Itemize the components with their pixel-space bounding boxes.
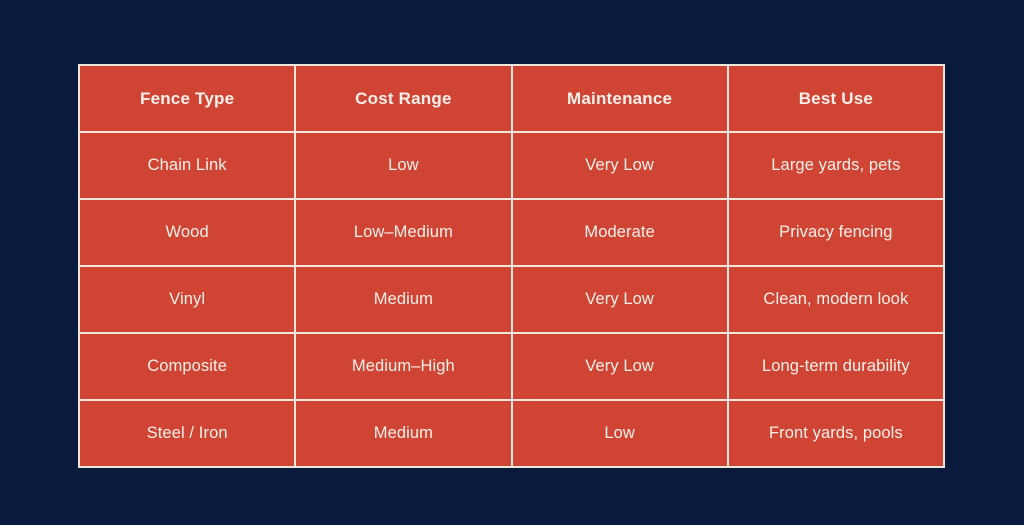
column-header-best-use: Best Use xyxy=(728,65,944,132)
table-body: Chain Link Low Very Low Large yards, pet… xyxy=(79,132,944,467)
cell-maintenance: Very Low xyxy=(512,266,728,333)
cell-maintenance: Very Low xyxy=(512,333,728,400)
cell-maintenance: Moderate xyxy=(512,199,728,266)
column-header-fence-type: Fence Type xyxy=(79,65,295,132)
cell-cost-range: Medium xyxy=(295,266,511,333)
table-row: Vinyl Medium Very Low Clean, modern look xyxy=(79,266,944,333)
cell-fence-type: Steel / Iron xyxy=(79,400,295,467)
page-canvas: Fence Type Cost Range Maintenance Best U… xyxy=(0,0,1024,525)
cell-fence-type: Vinyl xyxy=(79,266,295,333)
table-row: Chain Link Low Very Low Large yards, pet… xyxy=(79,132,944,199)
cell-cost-range: Medium xyxy=(295,400,511,467)
column-header-cost-range: Cost Range xyxy=(295,65,511,132)
cell-cost-range: Medium–High xyxy=(295,333,511,400)
cell-cost-range: Low xyxy=(295,132,511,199)
cell-maintenance: Very Low xyxy=(512,132,728,199)
cell-cost-range: Low–Medium xyxy=(295,199,511,266)
table-header-row: Fence Type Cost Range Maintenance Best U… xyxy=(79,65,944,132)
cell-best-use: Long-term durability xyxy=(728,333,944,400)
table-row: Composite Medium–High Very Low Long-term… xyxy=(79,333,944,400)
table-row: Wood Low–Medium Moderate Privacy fencing xyxy=(79,199,944,266)
cell-fence-type: Composite xyxy=(79,333,295,400)
cell-maintenance: Low xyxy=(512,400,728,467)
table-header: Fence Type Cost Range Maintenance Best U… xyxy=(79,65,944,132)
column-header-maintenance: Maintenance xyxy=(512,65,728,132)
cell-fence-type: Wood xyxy=(79,199,295,266)
cell-best-use: Large yards, pets xyxy=(728,132,944,199)
cell-fence-type: Chain Link xyxy=(79,132,295,199)
cell-best-use: Privacy fencing xyxy=(728,199,944,266)
table-row: Steel / Iron Medium Low Front yards, poo… xyxy=(79,400,944,467)
cell-best-use: Front yards, pools xyxy=(728,400,944,467)
fence-comparison-table: Fence Type Cost Range Maintenance Best U… xyxy=(78,64,945,468)
cell-best-use: Clean, modern look xyxy=(728,266,944,333)
